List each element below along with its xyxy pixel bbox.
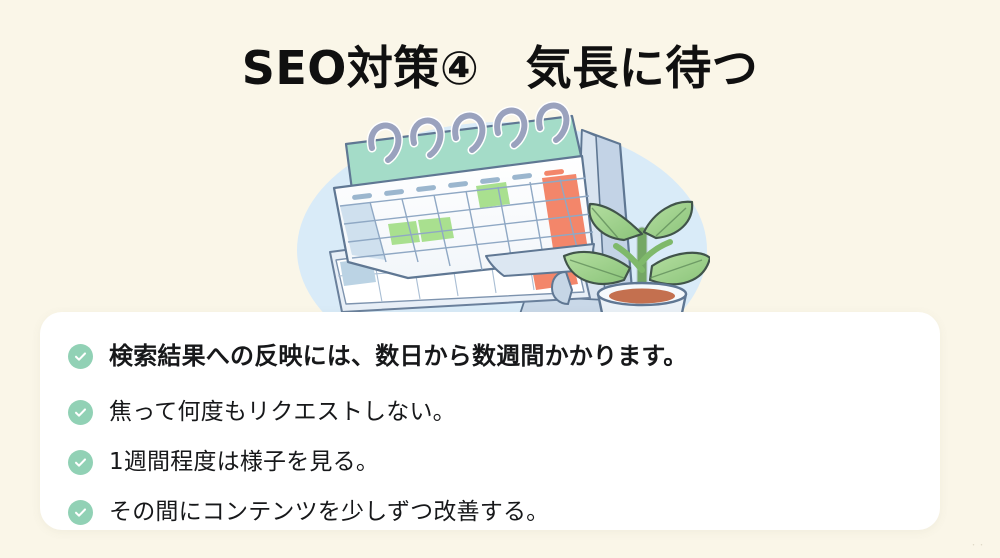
list-item-label: 焦って何度もリクエストしない。: [109, 392, 456, 432]
list-item-label: 1週間程度は様子を見る。: [109, 442, 379, 482]
content-card: 検索結果への反映には、数日から数週間かかります。 焦って何度もリクエストしない。…: [40, 312, 940, 530]
list-item: 検索結果への反映には、数日から数週間かかります。: [68, 336, 920, 376]
bullet-list: 検索結果への反映には、数日から数週間かかります。 焦って何度もリクエストしない。…: [68, 336, 920, 536]
slide-root: SEO対策④ 気長に待つ: [0, 0, 1000, 558]
list-item-label: 検索結果への反映には、数日から数週間かかります。: [109, 336, 687, 376]
list-item: 1週間程度は様子を見る。: [68, 442, 920, 482]
check-circle-icon: [68, 400, 93, 425]
check-circle-icon: [68, 500, 93, 525]
list-item: 焦って何度もリクエストしない。: [68, 392, 920, 432]
calendar-and-seedling-illustration: [290, 100, 710, 332]
list-item-label: その間にコンテンツを少しずつ改善する。: [109, 492, 549, 532]
check-circle-icon: [68, 450, 93, 475]
page-title: SEO対策④ 気長に待つ: [0, 32, 1000, 98]
check-circle-icon: [68, 344, 93, 369]
list-item: その間にコンテンツを少しずつ改善する。: [68, 492, 920, 532]
watermark: ・・: [970, 540, 986, 550]
